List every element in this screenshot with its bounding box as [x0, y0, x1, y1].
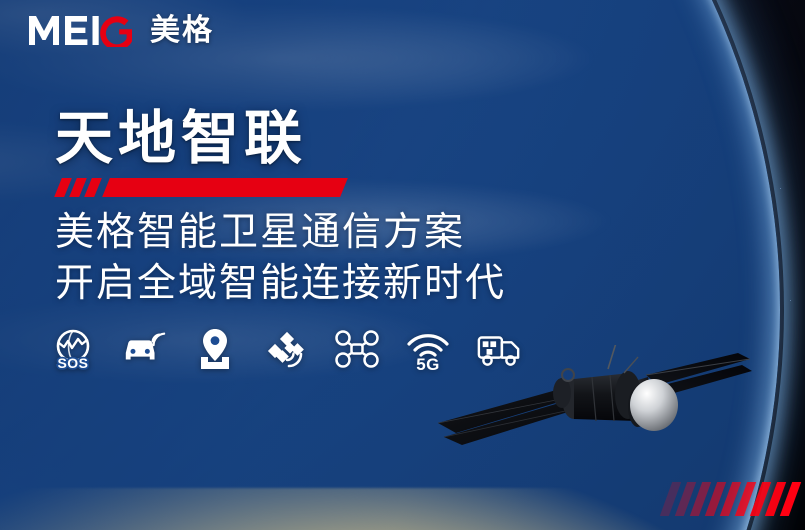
subtitle: 美格智能卫星通信方案 开启全域智能连接新时代: [55, 208, 506, 309]
decor-stripes: [666, 482, 795, 516]
satellite-icon: [263, 326, 309, 372]
feature-item-satellite-communication[interactable]: [263, 325, 309, 373]
5g-signal-icon: 5G: [405, 326, 451, 372]
location-pin-icon: [196, 327, 234, 371]
connected-car-icon: [121, 329, 167, 369]
brand-logo-cn: 美格: [150, 16, 214, 46]
svg-text:SOS: SOS: [57, 355, 88, 371]
drone-icon: [334, 329, 380, 369]
accent-bar-long: [102, 178, 348, 197]
banner-root: 美格 天地智联 美格智能卫星通信方案 开启全域智能连接新时代 SOS: [0, 0, 805, 530]
subtitle-line-2: 开启全域智能连接新时代: [55, 259, 506, 310]
brand-logo[interactable]: 美格: [27, 14, 214, 47]
delivery-truck-icon: [476, 329, 522, 369]
feature-item-connected-car[interactable]: [121, 325, 167, 373]
feature-item-location-tracking[interactable]: [192, 325, 238, 373]
accent-dash-3: [84, 178, 102, 197]
feature-item-logistics-truck[interactable]: [476, 325, 522, 373]
page-title: 天地智联: [55, 108, 307, 169]
feature-item-5g-network[interactable]: 5G: [405, 325, 451, 373]
accent-bar: [58, 178, 344, 197]
feature-item-drone[interactable]: [334, 325, 380, 373]
svg-text:5G: 5G: [416, 355, 439, 372]
globe-sos-icon: SOS: [51, 326, 95, 372]
subtitle-line-1: 美格智能卫星通信方案: [55, 208, 506, 259]
feature-item-emergency-sos[interactable]: SOS: [50, 325, 96, 373]
feature-icon-row: SOS: [50, 325, 522, 373]
meig-wordmark-icon: [27, 14, 139, 47]
